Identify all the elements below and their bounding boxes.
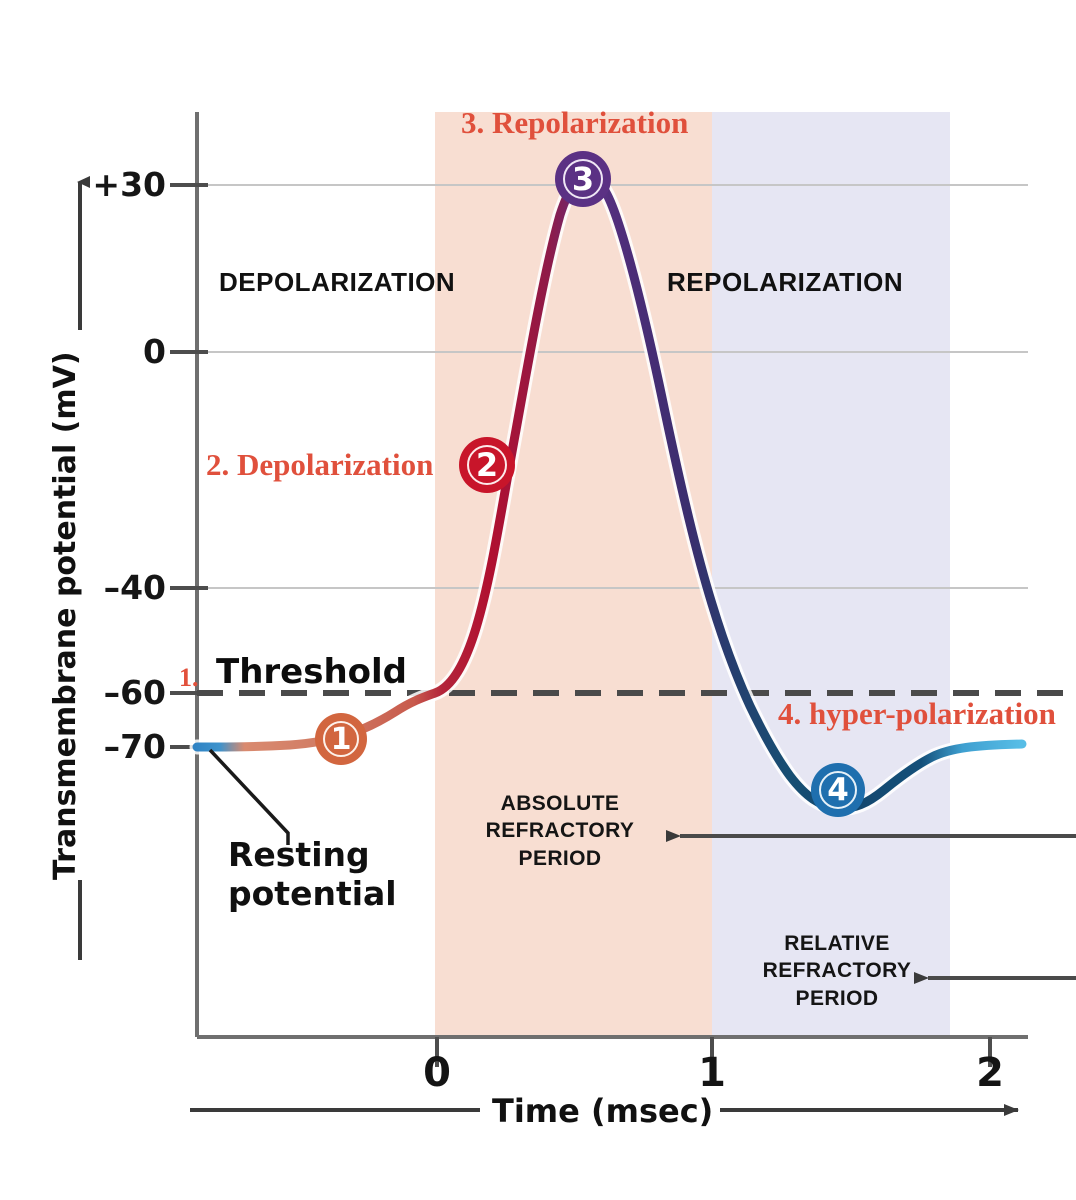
x-tick-label-2: 2 bbox=[950, 1050, 1030, 1096]
phase-marker-2-number: 2 bbox=[467, 446, 507, 484]
x-axis-title: Time (msec) bbox=[492, 1092, 713, 1130]
absolute-refractory-text: ABSOLUTE REFRACTORY PERIOD bbox=[486, 792, 635, 870]
phase-label-3-repolarization: 3. Repolarization bbox=[461, 105, 688, 141]
phase-marker-1-number: 1 bbox=[321, 722, 361, 757]
y-tick-label-30: +30 bbox=[84, 165, 166, 204]
threshold-number: 1. bbox=[179, 663, 199, 693]
band-absolute-refractory bbox=[435, 112, 712, 1037]
phase-marker-4-number: 4 bbox=[818, 772, 858, 808]
phase-label-2-depolarization: 2. Depolarization bbox=[206, 447, 433, 483]
phase-marker-3-number: 3 bbox=[563, 160, 603, 198]
relative-refractory-label: RELATIVE REFRACTORY PERIOD bbox=[742, 930, 932, 1012]
threshold-label: Threshold bbox=[216, 652, 407, 692]
caption-depolarization: DEPOLARIZATION bbox=[219, 267, 455, 298]
x-tick-label-0: 0 bbox=[397, 1050, 477, 1096]
action-potential-figure: +30 0 –40 –60 –70 0 1 2 Transmembrane po… bbox=[0, 0, 1076, 1200]
y-tick-label-minus40: –40 bbox=[78, 568, 166, 607]
resting-potential-label: Resting potential bbox=[228, 836, 397, 914]
x-tick-label-1: 1 bbox=[672, 1050, 752, 1096]
band-relative-refractory bbox=[712, 112, 950, 1037]
relative-refractory-text: RELATIVE REFRACTORY PERIOD bbox=[763, 932, 912, 1010]
y-tick-label-minus60: –60 bbox=[78, 673, 166, 712]
resting-potential-leader bbox=[210, 750, 288, 845]
absolute-refractory-label: ABSOLUTE REFRACTORY PERIOD bbox=[470, 790, 650, 872]
y-axis-title: Transmembrane potential (mV) bbox=[48, 351, 83, 880]
y-tick-label-minus70: –70 bbox=[78, 727, 166, 766]
caption-repolarization: REPOLARIZATION bbox=[667, 267, 903, 298]
phase-label-4-hyperpolarization: 4. hyper-polarization bbox=[778, 696, 1056, 732]
y-tick-label-0: 0 bbox=[84, 332, 166, 371]
